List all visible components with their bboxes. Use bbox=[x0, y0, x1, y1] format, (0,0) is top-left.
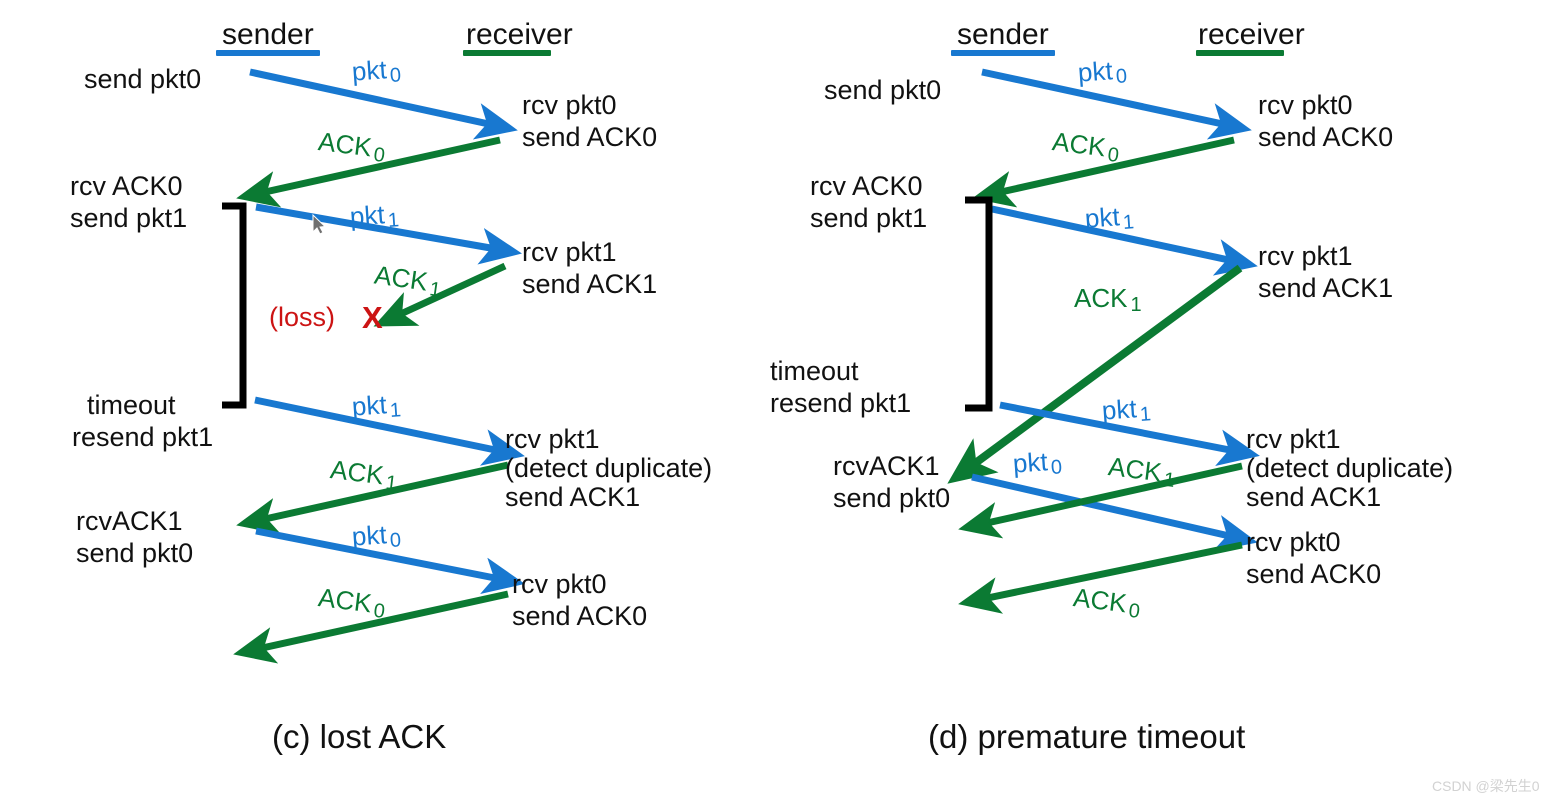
sender-underline-c bbox=[216, 50, 320, 56]
msg-ack1-delayed-sub-d: 1 bbox=[1127, 294, 1141, 316]
event-rcv-pkt0-second-c: rcv pkt0 bbox=[512, 568, 607, 600]
msg-pkt1-sub-d: 1 bbox=[1119, 211, 1135, 234]
event-resend-pkt1-c: resend pkt1 bbox=[72, 421, 213, 453]
msg-pkt0-second-c: pkt0 bbox=[351, 518, 402, 555]
mouse-cursor bbox=[313, 215, 325, 234]
msg-pkt1-resend-sub-c: 1 bbox=[386, 399, 402, 422]
msg-pkt0-c: pkt0 bbox=[351, 53, 402, 90]
msg-ack1-delayed-name-d: ACK bbox=[1074, 283, 1127, 313]
event-send-ack1-dup-c: send ACK1 bbox=[505, 481, 640, 513]
event-send-pkt0-c: send pkt0 bbox=[84, 63, 201, 95]
msg-ack0-second-name-d: ACK bbox=[1072, 582, 1129, 618]
event-send-ack1-d: send ACK1 bbox=[1258, 272, 1393, 304]
msg-ack1-name-d: ACK bbox=[1107, 451, 1164, 487]
msg-ack0-sub-d: 0 bbox=[1103, 143, 1120, 167]
msg-ack0-c: ACK0 bbox=[316, 126, 387, 168]
loss-label-c: (loss) bbox=[269, 302, 335, 333]
msg-pkt0-second-name-d: pkt bbox=[1012, 446, 1049, 478]
event-send-pkt1-d: send pkt1 bbox=[810, 202, 927, 234]
event-send-pkt1-c: send pkt1 bbox=[70, 202, 187, 234]
msg-pkt1-resend-name-c: pkt bbox=[351, 389, 388, 421]
msg-pkt1-resend-d: pkt1 bbox=[1101, 392, 1152, 429]
receiver-underline-d bbox=[1196, 50, 1284, 56]
timeout-bracket-d bbox=[965, 200, 989, 408]
event-send-ack1-c: send ACK1 bbox=[522, 268, 657, 300]
msg-ack1-d: ACK1 bbox=[1106, 451, 1177, 493]
timeout-bracket-c bbox=[222, 206, 243, 405]
event-send-ack0-second-d: send ACK0 bbox=[1246, 558, 1381, 590]
msg-ack0-second-c: ACK0 bbox=[316, 582, 387, 624]
receiver-header-d: receiver bbox=[1198, 18, 1305, 52]
event-rcvack1-d: rcvACK1 bbox=[833, 450, 940, 482]
event-rcv-pkt1-c: rcv pkt1 bbox=[522, 236, 617, 268]
msg-pkt0-name-c: pkt bbox=[351, 54, 388, 86]
caption-c: (c) lost ACK bbox=[272, 718, 446, 756]
caption-d: (d) premature timeout bbox=[928, 718, 1245, 756]
msg-ack1-lost-sub-c: 1 bbox=[425, 278, 442, 302]
event-send-ack0-d: send ACK0 bbox=[1258, 121, 1393, 153]
watermark: CSDN @梁先生0 bbox=[1432, 776, 1540, 796]
msg-pkt1-resend-sub-d: 1 bbox=[1136, 403, 1152, 426]
msg-pkt0-second-sub-c: 0 bbox=[386, 529, 402, 552]
receiver-underline-c bbox=[463, 50, 551, 56]
msg-ack1-sub-c: 1 bbox=[381, 471, 398, 495]
sender-underline-d bbox=[951, 50, 1055, 56]
msg-ack0-name-d: ACK bbox=[1051, 126, 1108, 162]
msg-pkt0-sub-d: 0 bbox=[1112, 65, 1128, 88]
event-resend-pkt1-d: resend pkt1 bbox=[770, 387, 911, 419]
event-send-ack0-second-c: send ACK0 bbox=[512, 600, 647, 632]
event-send-pkt0-d: send pkt0 bbox=[824, 74, 941, 106]
event-rcv-pkt0-d: rcv pkt0 bbox=[1258, 89, 1353, 121]
event-timeout-d: timeout bbox=[770, 355, 859, 387]
msg-ack1-name-c: ACK bbox=[329, 454, 386, 490]
event-rcv-pkt0-second-d: rcv pkt0 bbox=[1246, 526, 1341, 558]
event-send-pkt0-second-d: send pkt0 bbox=[833, 482, 950, 514]
event-rcv-ack0-c: rcv ACK0 bbox=[70, 170, 183, 202]
msg-pkt0-second-name-c: pkt bbox=[351, 519, 388, 551]
msg-ack0-second-sub-d: 0 bbox=[1124, 599, 1141, 623]
event-rcv-pkt1-dup-d: rcv pkt1 bbox=[1246, 423, 1341, 455]
msg-ack1-lost-c: ACK1 bbox=[372, 259, 444, 302]
event-rcv-pkt1-dup-c: rcv pkt1 bbox=[505, 423, 600, 455]
event-detect-duplicate-c: (detect duplicate) bbox=[505, 452, 712, 484]
msg-pkt1-c: pkt1 bbox=[349, 198, 400, 235]
event-detect-duplicate-d: (detect duplicate) bbox=[1246, 452, 1453, 484]
event-send-pkt0-second-c: send pkt0 bbox=[76, 537, 193, 569]
msg-pkt0-d: pkt0 bbox=[1077, 54, 1128, 91]
arrow-pkt0-second-d bbox=[972, 477, 1238, 538]
receiver-header-c: receiver bbox=[466, 18, 573, 52]
loss-x-mark-c: X bbox=[362, 300, 383, 336]
event-rcv-ack0-d: rcv ACK0 bbox=[810, 170, 923, 202]
msg-pkt1-name-d: pkt bbox=[1084, 201, 1121, 233]
msg-ack0-second-name-c: ACK bbox=[317, 582, 374, 618]
msg-ack1-delayed-d: ACK1 bbox=[1074, 283, 1142, 317]
msg-pkt1-resend-name-d: pkt bbox=[1101, 393, 1138, 425]
event-rcvack1-c: rcvACK1 bbox=[76, 505, 183, 537]
msg-pkt0-second-d: pkt0 bbox=[1012, 445, 1063, 482]
msg-ack0-d: ACK0 bbox=[1050, 126, 1121, 168]
event-send-ack1-dup-d: send ACK1 bbox=[1246, 481, 1381, 513]
msg-pkt1-name-c: pkt bbox=[349, 199, 386, 231]
msg-ack0-name-c: ACK bbox=[317, 126, 374, 162]
msg-ack0-second-sub-c: 0 bbox=[369, 599, 386, 623]
sender-header-d: sender bbox=[957, 18, 1049, 52]
msg-ack1-c: ACK1 bbox=[328, 454, 399, 496]
msg-pkt1-sub-c: 1 bbox=[384, 209, 400, 232]
event-timeout-c: timeout bbox=[87, 389, 176, 421]
diagram-canvas: sender receiver send pkt0 rcv ACK0 send … bbox=[0, 0, 1559, 811]
msg-ack0-second-d: ACK0 bbox=[1071, 582, 1142, 624]
msg-pkt0-second-sub-d: 0 bbox=[1047, 456, 1063, 479]
event-rcv-pkt1-d: rcv pkt1 bbox=[1258, 240, 1353, 272]
msg-ack0-sub-c: 0 bbox=[369, 143, 386, 167]
msg-pkt1-resend-c: pkt1 bbox=[351, 388, 402, 425]
msg-pkt0-sub-c: 0 bbox=[386, 64, 402, 87]
msg-pkt1-d: pkt1 bbox=[1084, 200, 1135, 237]
sender-header-c: sender bbox=[222, 18, 314, 52]
msg-ack1-sub-d: 1 bbox=[1159, 468, 1176, 492]
msg-ack1-lost-name-c: ACK bbox=[373, 259, 430, 296]
event-send-ack0-c: send ACK0 bbox=[522, 121, 657, 153]
msg-pkt0-name-d: pkt bbox=[1077, 55, 1114, 87]
event-rcv-pkt0-c: rcv pkt0 bbox=[522, 89, 617, 121]
